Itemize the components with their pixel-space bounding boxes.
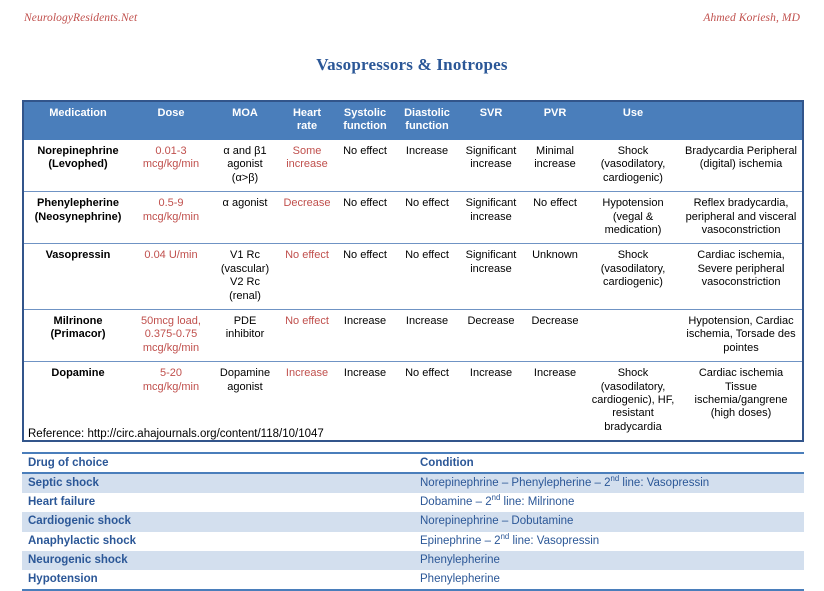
cell-systolic: No effect	[334, 244, 396, 310]
drug-of-choice-table: Drug of choice Condition Septic shock No…	[22, 452, 804, 591]
cell-dose: 0.5-9 mcg/kg/min	[132, 192, 210, 244]
cell-condition: Phenylepherine	[414, 570, 804, 590]
bottom-header-row: Drug of choice Condition	[22, 453, 804, 473]
list-item: Septic shock Norepinephrine – Phenylephe…	[22, 473, 804, 493]
cell-adverse: Cardiac ischemia, Severe peripheral vaso…	[680, 244, 802, 310]
cell-diastolic: No effect	[396, 192, 458, 244]
page-header: NeurologyResidents.Net Ahmed Koriesh, MD	[24, 12, 800, 30]
cell-systolic: No effect	[334, 140, 396, 192]
col-header-pvr: PVR	[524, 102, 586, 140]
cell-moa: α agonist	[210, 192, 280, 244]
cell-drug: Septic shock	[22, 473, 414, 493]
condition-ordinal-sup: nd	[611, 474, 620, 483]
cell-pvr: Unknown	[524, 244, 586, 310]
table-row: Milrinone (Primacor) 50mcg load, 0.375-0…	[24, 310, 802, 362]
author-name: Ahmed Koriesh, MD	[703, 12, 800, 24]
cell-pvr: Increase	[524, 362, 586, 441]
cell-condition: Norepinephrine – Phenylepherine – 2nd li…	[414, 473, 804, 493]
cell-condition: Phenylepherine	[414, 551, 804, 570]
cell-condition: Epinephrine – 2nd line: Vasopressin	[414, 532, 804, 551]
list-item: Anaphylactic shock Epinephrine – 2nd lin…	[22, 532, 804, 551]
col-header-dose: Dose	[132, 102, 210, 140]
cell-heart-rate: No effect	[280, 310, 334, 362]
condition-text-b: line: Vasopressin	[619, 477, 709, 489]
cell-use: Shock (vasodilatory, cardiogenic)	[586, 140, 680, 192]
condition-ordinal-sup: nd	[501, 532, 510, 541]
cell-dose: 50mcg load, 0.375-0.75 mcg/kg/min	[132, 310, 210, 362]
cell-adverse: Hypotension, Cardiac ischemia, Torsade d…	[680, 310, 802, 362]
cell-pvr: Minimal increase	[524, 140, 586, 192]
cell-medication: Norepinephrine (Levophed)	[24, 140, 132, 192]
cell-diastolic: No effect	[396, 244, 458, 310]
condition-text-a: Norepinephrine – Phenylepherine – 2	[420, 477, 611, 489]
condition-text-a: Phenylepherine	[420, 554, 500, 566]
col-header-moa: MOA	[210, 102, 280, 140]
cell-pvr: Decrease	[524, 310, 586, 362]
list-item: Neurogenic shock Phenylepherine	[22, 551, 804, 570]
col-header-adverse	[680, 102, 802, 140]
cell-condition: Dobamine – 2nd line: Milrinone	[414, 493, 804, 512]
cell-svr: Decrease	[458, 310, 524, 362]
condition-text-a: Dobamine – 2	[420, 496, 492, 508]
cell-heart-rate: Decrease	[280, 192, 334, 244]
cell-medication: Vasopressin	[24, 244, 132, 310]
cell-systolic: Increase	[334, 310, 396, 362]
col-header-diastolic-function: Diastolic function	[396, 102, 458, 140]
cell-heart-rate: No effect	[280, 244, 334, 310]
list-item: Hypotension Phenylepherine	[22, 570, 804, 590]
cell-svr: Increase	[458, 362, 524, 441]
cell-svr: Significant increase	[458, 140, 524, 192]
cell-adverse: Reflex bradycardia, peripheral and visce…	[680, 192, 802, 244]
site-name: NeurologyResidents.Net	[24, 12, 137, 24]
cell-drug: Cardiogenic shock	[22, 512, 414, 531]
col-header-medication: Medication	[24, 102, 132, 140]
cell-adverse: Bradycardia Peripheral (digital) ischemi…	[680, 140, 802, 192]
cell-drug: Heart failure	[22, 493, 414, 512]
condition-text-b: line: Milrinone	[500, 496, 574, 508]
cell-use: Hypotension (vegal & medication)	[586, 192, 680, 244]
cell-diastolic: No effect	[396, 362, 458, 441]
col-header-drug-of-choice: Drug of choice	[22, 453, 414, 473]
table-row: Norepinephrine (Levophed) 0.01-3 mcg/kg/…	[24, 140, 802, 192]
cell-moa: V1 Rc (vascular) V2 Rc (renal)	[210, 244, 280, 310]
cell-pvr: No effect	[524, 192, 586, 244]
cell-medication: Milrinone (Primacor)	[24, 310, 132, 362]
cell-systolic: Increase	[334, 362, 396, 441]
col-header-svr: SVR	[458, 102, 524, 140]
vasopressors-table: Medication Dose MOA Heart rate Systolic …	[22, 100, 804, 442]
cell-drug: Anaphylactic shock	[22, 532, 414, 551]
condition-text-a: Norepinephrine – Dobutamine	[420, 515, 573, 527]
cell-svr: Significant increase	[458, 192, 524, 244]
bottom-table-body: Septic shock Norepinephrine – Phenylephe…	[22, 473, 804, 590]
cell-diastolic: Increase	[396, 140, 458, 192]
cell-use: Shock (vasodilatory, cardiogenic)	[586, 244, 680, 310]
main-table-body: Norepinephrine (Levophed) 0.01-3 mcg/kg/…	[24, 140, 802, 440]
condition-text-a: Phenylepherine	[420, 573, 500, 585]
condition-text-b: line: Vasopressin	[509, 535, 599, 547]
cell-moa: PDE inhibitor	[210, 310, 280, 362]
table-row: Vasopressin 0.04 U/min V1 Rc (vascular) …	[24, 244, 802, 310]
cell-svr: Significant increase	[458, 244, 524, 310]
list-item: Cardiogenic shock Norepinephrine – Dobut…	[22, 512, 804, 531]
cell-medication: Phenylepherine (Neosynephrine)	[24, 192, 132, 244]
col-header-systolic-function: Systolic function	[334, 102, 396, 140]
cell-drug: Neurogenic shock	[22, 551, 414, 570]
condition-ordinal-sup: nd	[492, 493, 501, 502]
cell-dose: 0.04 U/min	[132, 244, 210, 310]
cell-condition: Norepinephrine – Dobutamine	[414, 512, 804, 531]
table-row: Phenylepherine (Neosynephrine) 0.5-9 mcg…	[24, 192, 802, 244]
cell-systolic: No effect	[334, 192, 396, 244]
cell-adverse: Cardiac ischemia Tissue ischemia/gangren…	[680, 362, 802, 441]
reference-line: Reference: http://circ.ahajournals.org/c…	[28, 428, 324, 440]
cell-heart-rate: Some increase	[280, 140, 334, 192]
cell-diastolic: Increase	[396, 310, 458, 362]
cell-drug: Hypotension	[22, 570, 414, 590]
col-header-condition: Condition	[414, 453, 804, 473]
condition-text-a: Epinephrine – 2	[420, 535, 501, 547]
cell-use: Shock (vasodilatory, cardiogenic), HF, r…	[586, 362, 680, 441]
list-item: Heart failure Dobamine – 2nd line: Milri…	[22, 493, 804, 512]
cell-dose: 0.01-3 mcg/kg/min	[132, 140, 210, 192]
table-header-row: Medication Dose MOA Heart rate Systolic …	[24, 102, 802, 140]
page-title: Vasopressors & Inotropes	[0, 55, 824, 75]
cell-moa: α and β1 agonist (α>β)	[210, 140, 280, 192]
col-header-use: Use	[586, 102, 680, 140]
cell-use	[586, 310, 680, 362]
col-header-heart-rate: Heart rate	[280, 102, 334, 140]
